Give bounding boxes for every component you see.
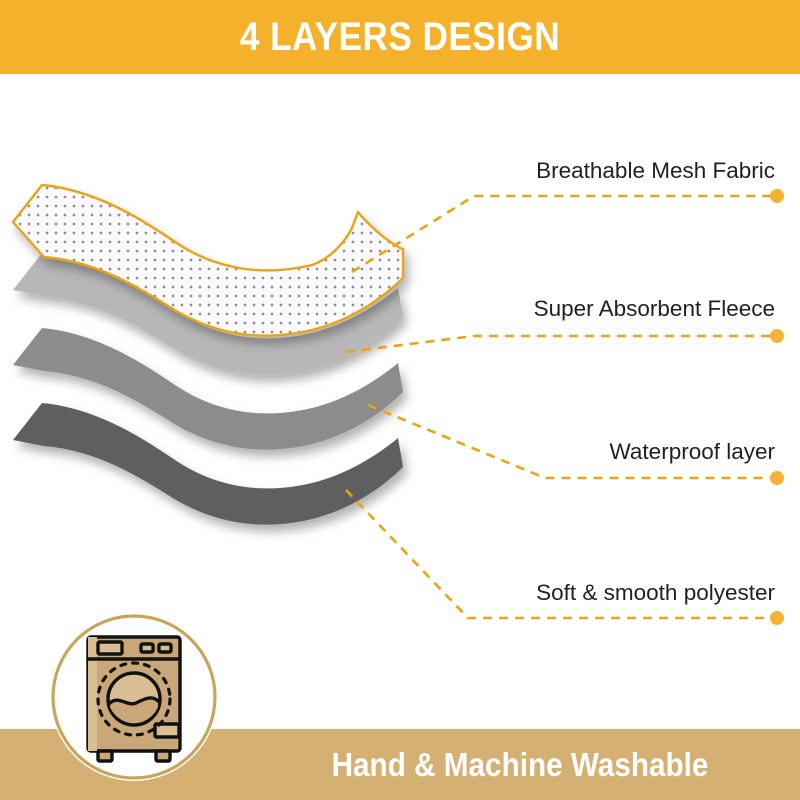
- washing-machine-icon: [88, 637, 180, 761]
- infographic-page: 4 LAYERS DESIGN: [0, 0, 800, 800]
- leader-dot-2: [770, 329, 784, 343]
- leader-dot-3: [770, 471, 784, 485]
- leader-dot-1: [770, 189, 784, 203]
- page-title: 4 LAYERS DESIGN: [240, 15, 560, 60]
- top-banner: 4 LAYERS DESIGN: [0, 0, 800, 74]
- layer-stack-illustration: [0, 150, 470, 590]
- callout-label-breathable-mesh-fabric: Breathable Mesh Fabric: [290, 158, 775, 184]
- callout-label-soft-smooth-polyester: Soft & smooth polyester: [290, 580, 775, 606]
- callout-label-waterproof-layer: Waterproof layer: [290, 439, 775, 465]
- leader-dot-4: [770, 611, 784, 625]
- bottom-banner-title: Hand & Machine Washable: [273, 729, 768, 800]
- callout-label-super-absorbent-fleece: Super Absorbent Fleece: [290, 296, 775, 322]
- washing-machine-badge: [48, 611, 220, 783]
